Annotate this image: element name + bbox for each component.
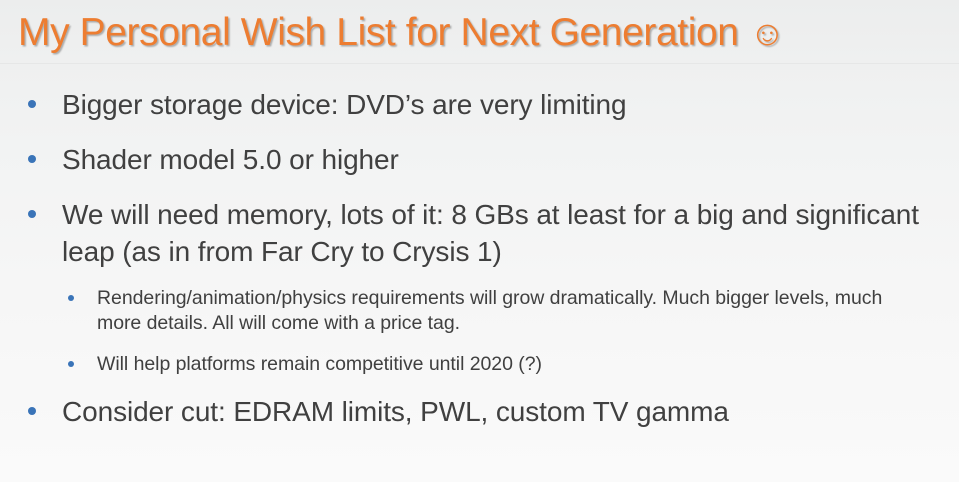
sub-bullet-item: Rendering/animation/physics requirements…	[0, 286, 959, 336]
bullet-dot-icon	[68, 361, 74, 367]
bullet-item: We will need memory, lots of it: 8 GBs a…	[0, 196, 959, 270]
sub-bullet-text: Rendering/animation/physics requirements…	[97, 287, 882, 334]
bullet-text: Consider cut: EDRAM limits, PWL, custom …	[62, 396, 729, 427]
bullet-item: Bigger storage device: DVD’s are very li…	[0, 86, 959, 123]
bullet-dot-icon	[28, 210, 36, 218]
slide-title: My Personal Wish List for Next Generatio…	[18, 4, 938, 60]
sub-bullet-item: Will help platforms remain competitive u…	[0, 352, 959, 377]
bullet-text: We will need memory, lots of it: 8 GBs a…	[62, 199, 919, 267]
bullet-dot-icon	[28, 155, 36, 163]
bullet-item: Consider cut: EDRAM limits, PWL, custom …	[0, 393, 959, 430]
smiley-face-icon: ☺	[750, 16, 786, 51]
bullet-text: Bigger storage device: DVD’s are very li…	[62, 89, 626, 120]
bullet-dot-icon	[68, 295, 74, 301]
slide-title-text: My Personal Wish List for Next Generatio…	[18, 13, 739, 52]
bullet-dot-icon	[28, 100, 36, 108]
slide-body: Bigger storage device: DVD’s are very li…	[0, 86, 959, 448]
bullet-dot-icon	[28, 407, 36, 415]
presentation-slide: My Personal Wish List for Next Generatio…	[0, 0, 959, 482]
sub-bullet-text: Will help platforms remain competitive u…	[97, 353, 542, 375]
bullet-item: Shader model 5.0 or higher	[0, 141, 959, 178]
bullet-text: Shader model 5.0 or higher	[62, 144, 399, 175]
